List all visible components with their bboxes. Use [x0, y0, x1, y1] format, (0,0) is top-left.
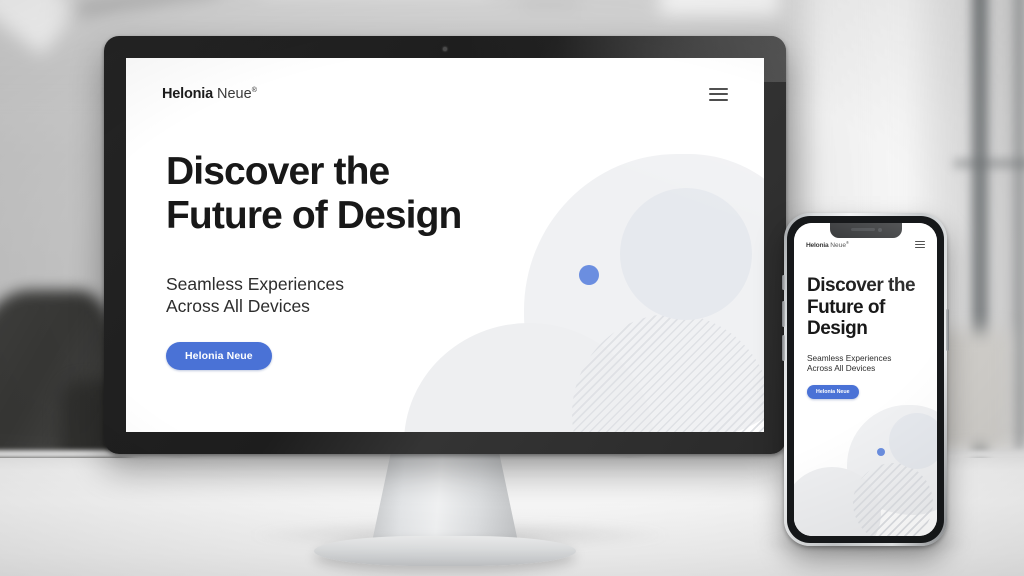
hero-subheading: Seamless Experiences Across All Devices [166, 273, 461, 317]
hero-section-mobile: Discover the Future of Design Seamless E… [807, 275, 927, 399]
website-page-desktop: Helonia Neue® Discover the Future of Des… [126, 58, 764, 432]
window-frame [1014, 0, 1024, 450]
hamburger-line [709, 88, 728, 90]
hero-subheading-line-1: Seamless Experiences [807, 353, 891, 363]
desktop-monitor: Helonia Neue® Discover the Future of Des… [104, 36, 786, 454]
hamburger-line [915, 241, 925, 242]
logo-bold-text: Helonia [162, 86, 213, 102]
ceiling-light [660, 0, 780, 14]
monitor-screen: Helonia Neue® Discover the Future of Des… [126, 58, 764, 432]
monitor-stand-base [314, 536, 576, 566]
hero-heading-line-3: Design [807, 318, 867, 339]
hero-subheading-line-2: Across All Devices [166, 296, 310, 316]
logo-light-word: Neue [830, 242, 846, 249]
logo-trademark: ® [846, 240, 849, 245]
soft-circle-shape [889, 413, 937, 469]
hero-heading: Discover the Future of Design [807, 275, 927, 340]
blue-dot-shape [877, 448, 885, 456]
brand-logo[interactable]: Helonia Neue® [162, 86, 257, 102]
hamburger-line [709, 93, 728, 95]
blob-bottom-shape [794, 467, 881, 536]
blob-main-shape [524, 154, 764, 432]
ceiling-light [0, 0, 79, 55]
brand-logo[interactable]: Helonia Neue® [806, 240, 849, 249]
logo-trademark: ® [252, 87, 257, 94]
hero-heading-line-2: Future of Design [166, 194, 461, 237]
earpiece-speaker-icon [851, 228, 875, 231]
hatched-circle-shape [853, 463, 933, 536]
blob-main-shape [847, 405, 937, 515]
phone-inner-bezel: Helonia Neue® Discover the Future of Des… [787, 216, 944, 543]
webcam-icon [443, 47, 447, 51]
phone-screen: Helonia Neue® Discover the Future of Des… [794, 223, 937, 536]
site-header: Helonia Neue® [126, 58, 764, 102]
smartphone: Helonia Neue® Discover the Future of Des… [784, 213, 947, 546]
logo-light-word: Neue [217, 86, 252, 102]
hero-subheading-line-2: Across All Devices [807, 363, 875, 373]
hero-heading-line-2: Future of [807, 297, 885, 318]
blue-dot-shape [579, 265, 599, 285]
device-mockup-scene: Helonia Neue® Discover the Future of Des… [0, 0, 1024, 576]
hero-section: Discover the Future of Design Seamless E… [166, 150, 461, 370]
hero-heading: Discover the Future of Design [166, 150, 461, 238]
cta-button[interactable]: Helonia Neue [807, 385, 859, 399]
soft-circle-shape [620, 188, 752, 320]
hero-subheading: Seamless Experiences Across All Devices [807, 353, 927, 374]
hero-heading-line-1: Discover the [166, 150, 389, 193]
power-button[interactable] [946, 309, 949, 351]
volume-down-button[interactable] [782, 335, 785, 361]
hamburger-icon[interactable] [709, 88, 728, 101]
hamburger-icon[interactable] [915, 241, 925, 248]
hero-subheading-line-1: Seamless Experiences [166, 274, 344, 294]
hamburger-line [915, 247, 925, 248]
logo-bold-text: Helonia [806, 242, 828, 249]
volume-up-button[interactable] [782, 301, 785, 327]
monitor-stand-neck [372, 452, 518, 542]
hamburger-line [709, 99, 728, 101]
hatched-circle-shape [572, 314, 764, 432]
website-page-mobile: Helonia Neue® Discover the Future of Des… [794, 223, 937, 536]
cta-button[interactable]: Helonia Neue [166, 342, 272, 370]
hero-heading-line-1: Discover the [807, 275, 915, 296]
ceiling-light [520, 0, 580, 6]
hamburger-line [915, 244, 925, 245]
window-frame [954, 160, 1024, 167]
mute-switch-button[interactable] [782, 275, 785, 290]
front-camera-icon [878, 228, 882, 232]
